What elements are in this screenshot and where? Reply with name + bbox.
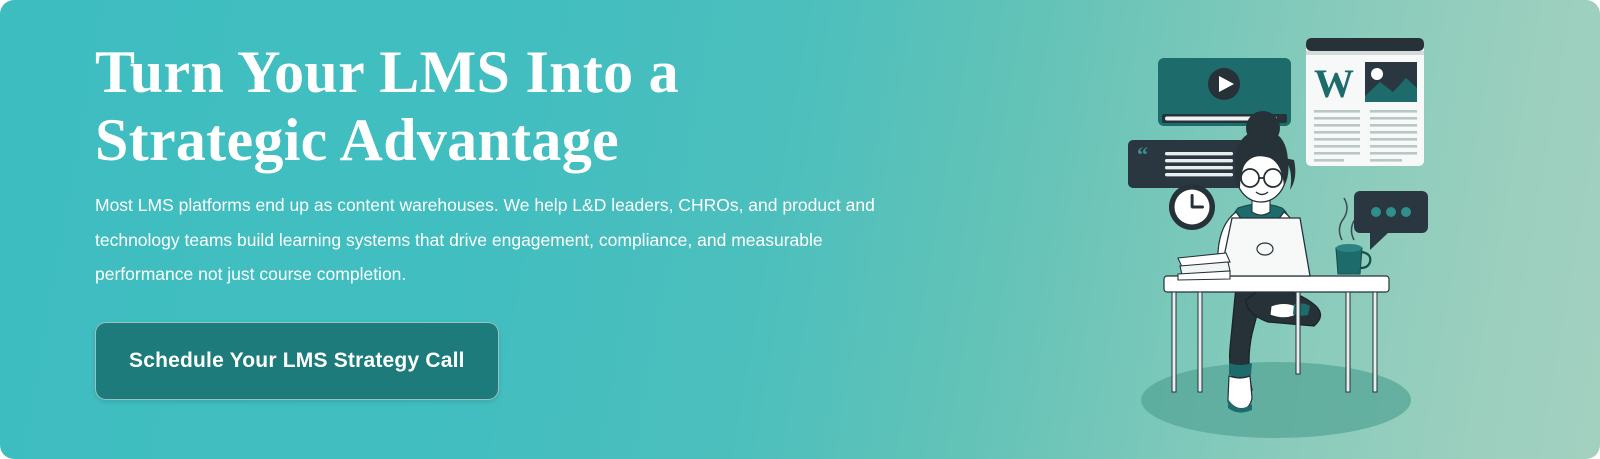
books-stack (1178, 253, 1230, 280)
laptop (1220, 218, 1310, 276)
newspaper-card: W (1306, 38, 1424, 166)
banner-description: Most LMS platforms end up as content war… (95, 188, 905, 292)
hero-illustration: “ W (1118, 18, 1448, 438)
quote-card: “ (1128, 140, 1245, 188)
schedule-strategy-call-button[interactable]: Schedule Your LMS Strategy Call (95, 322, 499, 400)
floor-shadow (1141, 362, 1411, 438)
chat-bubble-icon (1354, 191, 1428, 250)
cta-banner: Turn Your LMS Into a Strategic Advantage… (0, 0, 1600, 459)
clock-icon (1169, 184, 1215, 230)
banner-content: Turn Your LMS Into a Strategic Advantage… (95, 38, 925, 400)
quote-mark-icon: “ (1137, 142, 1148, 167)
page-title: Turn Your LMS Into a Strategic Advantage (95, 38, 925, 174)
newspaper-dropcap: W (1314, 61, 1354, 106)
